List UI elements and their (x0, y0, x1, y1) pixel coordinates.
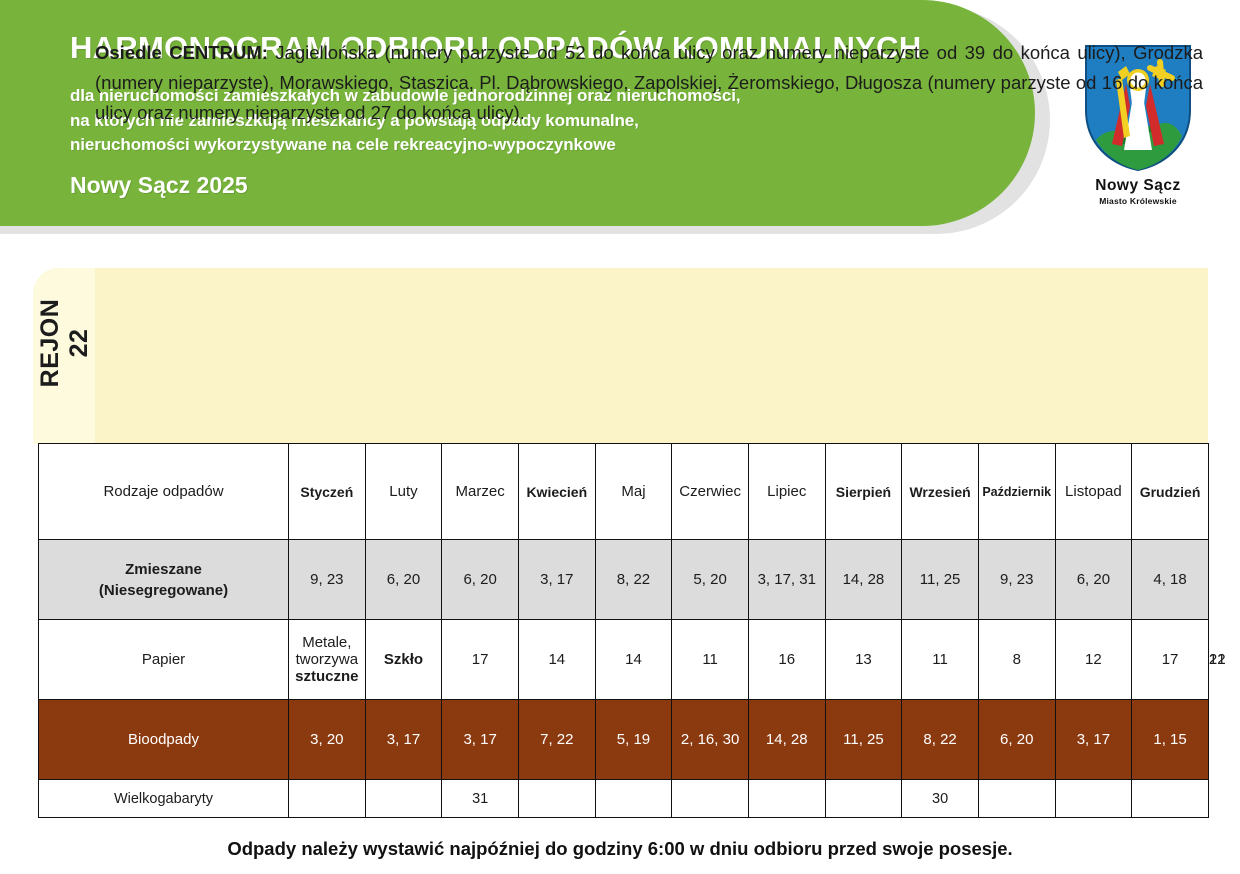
row-label-bio: Bioodpady (39, 700, 289, 780)
header-month-11: Listopad (1055, 444, 1132, 540)
subtitle-line: nieruchomości wykorzystywane na cele rek… (70, 133, 950, 158)
mixed-apr: 3, 17 (518, 540, 595, 620)
mixed-jan: 9, 23 (289, 540, 366, 620)
mixed-may: 8, 22 (595, 540, 672, 620)
estate-name: Osiedle CENTRUM: (95, 42, 268, 63)
segregated-oct: 17 (1132, 620, 1209, 700)
header-month-1: Styczeń (289, 444, 366, 540)
mixed-feb: 6, 20 (365, 540, 442, 620)
bio-mar: 3, 17 (442, 700, 519, 780)
row-label-paper: Papier (39, 620, 289, 700)
table-row-bulky-waste: Wielkogabaryty 31 30 (39, 780, 1209, 818)
bulky-jan (289, 780, 366, 818)
bio-may: 5, 19 (595, 700, 672, 780)
segregated-jul: 11 (902, 620, 979, 700)
region-label-strip: REJON 22 (33, 268, 95, 444)
bulky-may (595, 780, 672, 818)
crest-city-name: Nowy Sącz (1068, 177, 1208, 195)
segregated-may: 16 (748, 620, 825, 700)
segregated-aug: 8 (978, 620, 1055, 700)
row-label-metal-plastic: Metale, tworzywa sztuczne (289, 620, 366, 700)
bulky-oct (978, 780, 1055, 818)
row-label-mixed: Zmieszane (Niesegregowane) (39, 540, 289, 620)
metal-line2: tworzywa (289, 651, 365, 668)
table-row-mixed-waste: Zmieszane (Niesegregowane) 9, 23 6, 20 6… (39, 540, 1209, 620)
header-month-5: Maj (595, 444, 672, 540)
header-month-12: Grudzień (1132, 444, 1209, 540)
bulky-apr (518, 780, 595, 818)
mixed-mar: 6, 20 (442, 540, 519, 620)
bio-nov: 3, 17 (1055, 700, 1132, 780)
segregated-apr: 11 (672, 620, 749, 700)
mixed-nov: 6, 20 (1055, 540, 1132, 620)
segregated-sep: 12 (1055, 620, 1132, 700)
mixed-jul: 3, 17, 31 (748, 540, 825, 620)
crest-motto: Miasto Królewskie (1068, 196, 1208, 206)
bio-jun: 2, 16, 30 (672, 700, 749, 780)
bio-dec: 1, 15 (1132, 700, 1209, 780)
mixed-sep: 11, 25 (902, 540, 979, 620)
metal-line1: Metale, (289, 634, 365, 651)
mixed-label-line1: Zmieszane (39, 559, 288, 580)
bio-aug: 11, 25 (825, 700, 902, 780)
region-label: REJON 22 (36, 289, 94, 397)
bulky-jul (748, 780, 825, 818)
header-waste-kind: Rodzaje odpadów (39, 444, 289, 540)
bio-sep: 8, 22 (902, 700, 979, 780)
row-label-glass: Szkło (365, 620, 442, 700)
region-description: Osiedle CENTRUM: Jagiellońska (numery pa… (95, 38, 1203, 128)
city-year-label: Nowy Sącz 2025 (70, 172, 248, 199)
collection-schedule-table: Rodzaje odpadów Styczeń Luty Marzec Kwie… (38, 443, 1209, 818)
bio-jul: 14, 28 (748, 700, 825, 780)
header-month-10: Październik (978, 444, 1055, 540)
mixed-jun: 5, 20 (672, 540, 749, 620)
bulky-sep: 30 (902, 780, 979, 818)
bulky-nov (1055, 780, 1132, 818)
table-row-segregated-waste: Papier Metale, tworzywa sztuczne Szkło 1… (39, 620, 1209, 700)
header-month-3: Marzec (442, 444, 519, 540)
header-month-6: Czerwiec (672, 444, 749, 540)
segregated-jan: 17 (442, 620, 519, 700)
mixed-aug: 14, 28 (825, 540, 902, 620)
footer-note: Odpady należy wystawić najpóźniej do god… (0, 838, 1240, 860)
mixed-oct: 9, 23 (978, 540, 1055, 620)
bulky-jun (672, 780, 749, 818)
bulky-aug (825, 780, 902, 818)
segregated-mar: 14 (595, 620, 672, 700)
region-panel (33, 268, 1208, 444)
bio-feb: 3, 17 (365, 700, 442, 780)
bio-apr: 7, 22 (518, 700, 595, 780)
bulky-dec (1132, 780, 1209, 818)
mixed-label-line2: (Niesegregowane) (39, 580, 288, 601)
row-label-bulky: Wielkogabaryty (39, 780, 289, 818)
bulky-feb (365, 780, 442, 818)
mixed-dec: 4, 18 (1132, 540, 1209, 620)
table-header-row: Rodzaje odpadów Styczeń Luty Marzec Kwie… (39, 444, 1209, 540)
bulky-mar: 31 (442, 780, 519, 818)
header-month-4: Kwiecień (518, 444, 595, 540)
table-row-bio-waste: Bioodpady 3, 20 3, 17 3, 17 7, 22 5, 19 … (39, 700, 1209, 780)
segregated-feb: 14 (518, 620, 595, 700)
segregated-jun: 13 (825, 620, 902, 700)
header-month-8: Sierpień (825, 444, 902, 540)
bio-oct: 6, 20 (978, 700, 1055, 780)
header-month-9: Wrzesień (902, 444, 979, 540)
header-month-7: Lipiec (748, 444, 825, 540)
metal-line3: sztuczne (295, 668, 358, 685)
bio-jan: 3, 20 (289, 700, 366, 780)
header-month-2: Luty (365, 444, 442, 540)
